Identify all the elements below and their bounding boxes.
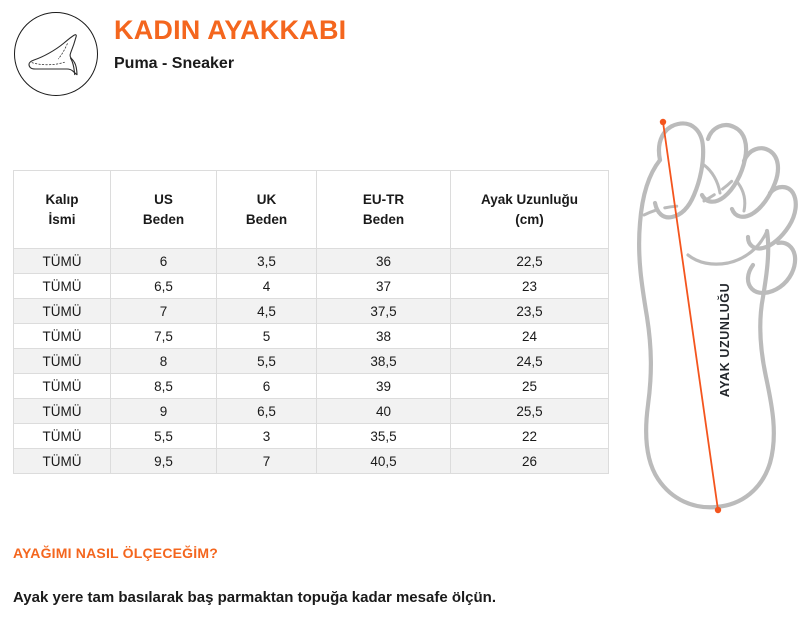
table-row: TÜMÜ 7 4,5 37,5 23,5 [14, 299, 609, 324]
column-header-uk-beden: UK Beden [217, 171, 317, 249]
table-row: TÜMÜ 9 6,5 40 25,5 [14, 399, 609, 424]
table-row: TÜMÜ 8 5,5 38,5 24,5 [14, 349, 609, 374]
table-row: TÜMÜ 5,5 3 35,5 22 [14, 424, 609, 449]
cell-ayak-uzunlugu: 24 [451, 324, 609, 349]
cell-eu-tr-beden: 38 [317, 324, 451, 349]
how-to-measure-body: Ayak yere tam basılarak baş parmaktan to… [13, 589, 633, 606]
cell-eu-tr-beden: 37,5 [317, 299, 451, 324]
table-row: TÜMÜ 9,5 7 40,5 26 [14, 449, 609, 474]
cell-eu-tr-beden: 38,5 [317, 349, 451, 374]
how-to-measure-section: AYAĞIMI NASIL ÖLÇECEĞİM? Ayak yere tam b… [13, 545, 633, 606]
cell-us-beden: 9 [111, 399, 217, 424]
high-heel-shoe-icon [14, 12, 98, 96]
cell-ayak-uzunlugu: 23,5 [451, 299, 609, 324]
cell-kalip-ismi: TÜMÜ [14, 399, 111, 424]
cell-us-beden: 9,5 [111, 449, 217, 474]
cell-kalip-ismi: TÜMÜ [14, 324, 111, 349]
cell-eu-tr-beden: 35,5 [317, 424, 451, 449]
cell-eu-tr-beden: 39 [317, 374, 451, 399]
table-body: TÜMÜ 6 3,5 36 22,5 TÜMÜ 6,5 4 37 23 TÜMÜ… [14, 249, 609, 474]
table-header: Kalıp İsmi US Beden UK Beden EU-TR Beden… [14, 171, 609, 249]
column-header-kalip-ismi: Kalıp İsmi [14, 171, 111, 249]
page-subtitle: Puma - Sneaker [114, 55, 346, 73]
table-row: TÜMÜ 6,5 4 37 23 [14, 274, 609, 299]
cell-kalip-ismi: TÜMÜ [14, 274, 111, 299]
cell-uk-beden: 3 [217, 424, 317, 449]
cell-eu-tr-beden: 40 [317, 399, 451, 424]
size-chart-table: Kalıp İsmi US Beden UK Beden EU-TR Beden… [13, 170, 609, 474]
cell-uk-beden: 4 [217, 274, 317, 299]
cell-us-beden: 8,5 [111, 374, 217, 399]
cell-us-beden: 8 [111, 349, 217, 374]
cell-ayak-uzunlugu: 22 [451, 424, 609, 449]
cell-uk-beden: 3,5 [217, 249, 317, 274]
column-header-us-beden: US Beden [111, 171, 217, 249]
column-header-ayak-uzunlugu: Ayak Uzunluğu (cm) [451, 171, 609, 249]
cell-uk-beden: 4,5 [217, 299, 317, 324]
cell-uk-beden: 5,5 [217, 349, 317, 374]
cell-ayak-uzunlugu: 23 [451, 274, 609, 299]
cell-ayak-uzunlugu: 26 [451, 449, 609, 474]
cell-kalip-ismi: TÜMÜ [14, 349, 111, 374]
cell-eu-tr-beden: 36 [317, 249, 451, 274]
foot-sole-diagram [620, 105, 800, 525]
cell-eu-tr-beden: 40,5 [317, 449, 451, 474]
cell-uk-beden: 6,5 [217, 399, 317, 424]
column-header-eu-tr-beden: EU-TR Beden [317, 171, 451, 249]
table-row: TÜMÜ 7,5 5 38 24 [14, 324, 609, 349]
cell-kalip-ismi: TÜMÜ [14, 249, 111, 274]
cell-ayak-uzunlugu: 22,5 [451, 249, 609, 274]
cell-uk-beden: 5 [217, 324, 317, 349]
page-header: KADIN AYAKKABI Puma - Sneaker [0, 0, 620, 110]
cell-us-beden: 6,5 [111, 274, 217, 299]
cell-ayak-uzunlugu: 25,5 [451, 399, 609, 424]
cell-kalip-ismi: TÜMÜ [14, 374, 111, 399]
cell-ayak-uzunlugu: 25 [451, 374, 609, 399]
cell-eu-tr-beden: 37 [317, 274, 451, 299]
cell-kalip-ismi: TÜMÜ [14, 299, 111, 324]
measure-line [660, 119, 721, 513]
table-row: TÜMÜ 6 3,5 36 22,5 [14, 249, 609, 274]
cell-us-beden: 7,5 [111, 324, 217, 349]
cell-uk-beden: 6 [217, 374, 317, 399]
cell-ayak-uzunlugu: 24,5 [451, 349, 609, 374]
cell-uk-beden: 7 [217, 449, 317, 474]
table-header-row: Kalıp İsmi US Beden UK Beden EU-TR Beden… [14, 171, 609, 249]
measure-label: AYAK UZUNLUĞU [718, 283, 732, 398]
cell-us-beden: 5,5 [111, 424, 217, 449]
header-text-block: KADIN AYAKKABI Puma - Sneaker [114, 16, 346, 73]
table-row: TÜMÜ 8,5 6 39 25 [14, 374, 609, 399]
size-guide-page: KADIN AYAKKABI Puma - Sneaker Kalıp İsmi… [0, 0, 800, 634]
cell-kalip-ismi: TÜMÜ [14, 449, 111, 474]
how-to-measure-heading: AYAĞIMI NASIL ÖLÇECEĞİM? [13, 545, 633, 561]
cell-kalip-ismi: TÜMÜ [14, 424, 111, 449]
cell-us-beden: 7 [111, 299, 217, 324]
cell-us-beden: 6 [111, 249, 217, 274]
page-title: KADIN AYAKKABI [114, 16, 346, 44]
